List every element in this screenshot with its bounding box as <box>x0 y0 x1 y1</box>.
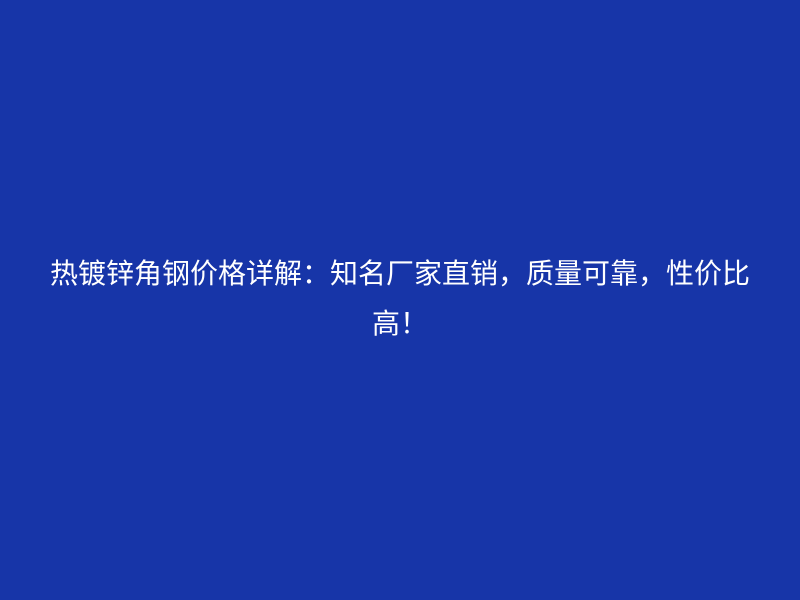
headline-block: 热镀锌角钢价格详解：知名厂家直销，质量可靠，性价比高！ <box>50 249 750 349</box>
title-card: 热镀锌角钢价格详解：知名厂家直销，质量可靠，性价比高！ <box>0 0 800 600</box>
page-title: 热镀锌角钢价格详解：知名厂家直销，质量可靠，性价比高！ <box>50 249 750 349</box>
